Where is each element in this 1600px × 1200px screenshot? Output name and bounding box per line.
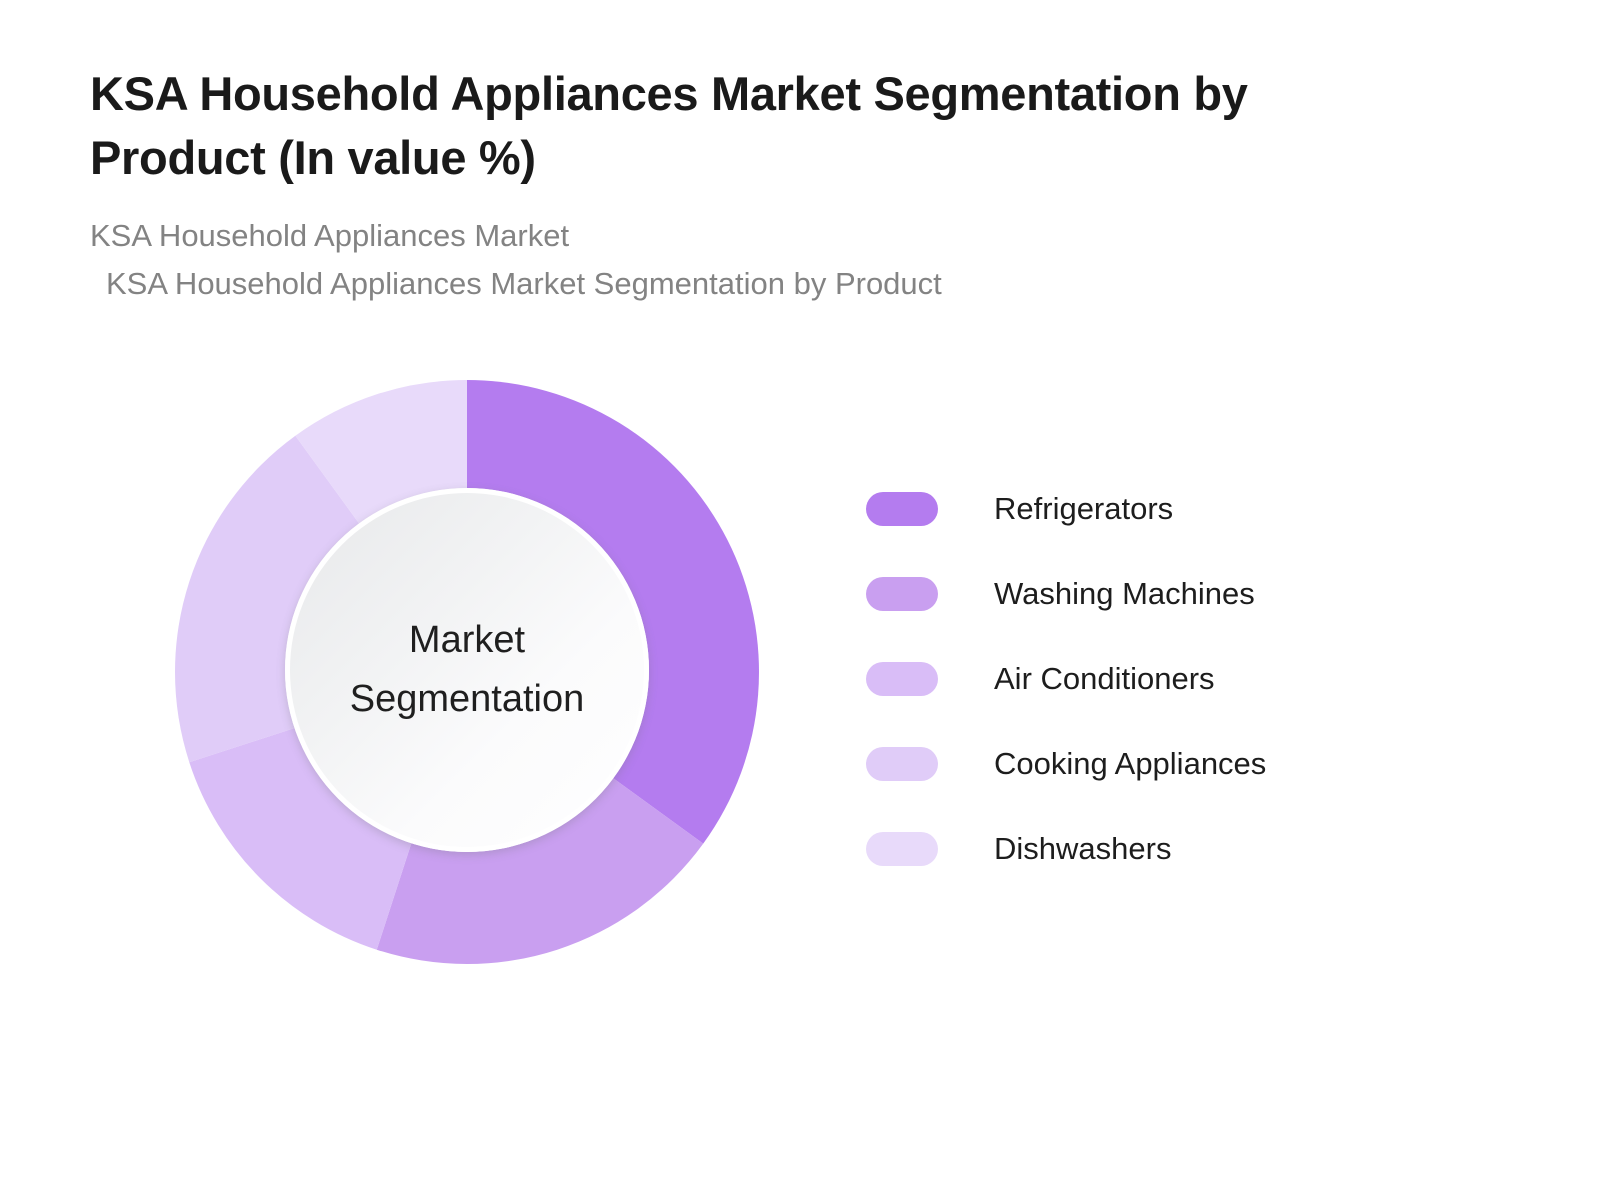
legend-swatch-icon <box>866 662 938 696</box>
legend-item-label: Cooking Appliances <box>994 748 1266 779</box>
chart-area: Refrigerators: 35%Washing Machines: 20%A… <box>0 0 1600 1200</box>
donut-chart: Refrigerators: 35%Washing Machines: 20%A… <box>175 380 759 964</box>
legend-swatch-icon <box>866 577 938 611</box>
donut-center-hole: Market Segmentation <box>285 488 649 852</box>
legend-item-label: Dishwashers <box>994 833 1171 864</box>
legend-item-label: Washing Machines <box>994 578 1255 609</box>
legend-swatch-icon <box>866 492 938 526</box>
legend-item[interactable]: Dishwashers <box>866 806 1466 891</box>
legend-item[interactable]: Washing Machines <box>866 551 1466 636</box>
chart-page: KSA Household Appliances Market Segmenta… <box>0 0 1600 1200</box>
legend-swatch-icon <box>866 832 938 866</box>
legend-item-label: Air Conditioners <box>994 663 1215 694</box>
chart-legend: RefrigeratorsWashing MachinesAir Conditi… <box>866 466 1466 891</box>
legend-item[interactable]: Refrigerators <box>866 466 1466 551</box>
legend-item-label: Refrigerators <box>994 493 1173 524</box>
legend-swatch-icon <box>866 747 938 781</box>
donut-center-label: Market Segmentation <box>350 611 585 729</box>
legend-item[interactable]: Air Conditioners <box>866 636 1466 721</box>
legend-item[interactable]: Cooking Appliances <box>866 721 1466 806</box>
